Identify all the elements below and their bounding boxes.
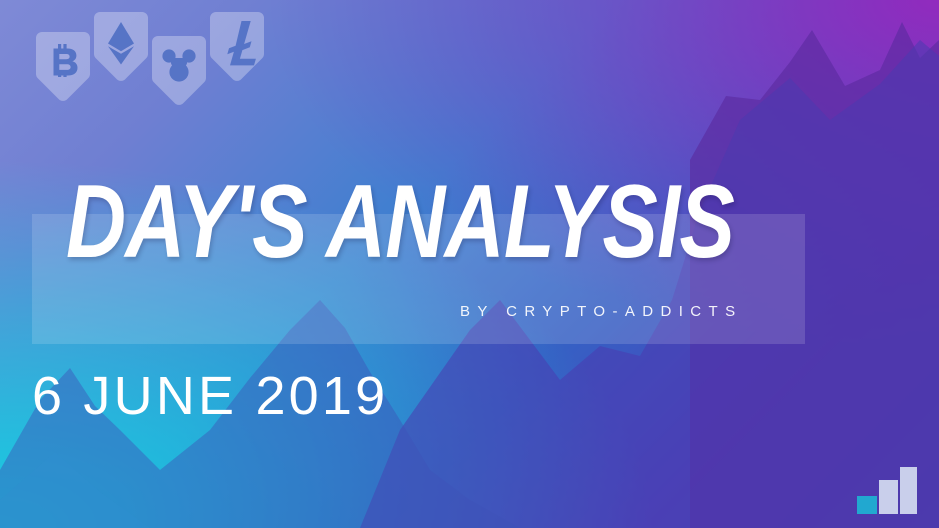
ripple-badge: [152, 36, 206, 106]
bitcoin-badge: [36, 32, 90, 102]
subtitle-byline: BY CRYPTO-ADDICTS: [460, 303, 743, 320]
page-title: DAY'S ANALYSIS: [66, 170, 734, 274]
logo-bar-1: [857, 496, 877, 514]
logo-bar-2: [879, 480, 898, 514]
date-label: 6 JUNE 2019: [32, 365, 388, 427]
bar-chart-logo: [857, 462, 917, 514]
badge-shield-shape: [36, 32, 90, 101]
logo-bar-3: [900, 467, 917, 514]
mountain-range-mid: [360, 40, 939, 528]
litecoin-badge: [210, 12, 264, 82]
poster-canvas: DAY'S ANALYSIS BY CRYPTO-ADDICTS 6 JUNE …: [0, 0, 939, 528]
page-title-text: DAY'S ANALYSIS: [66, 170, 734, 274]
ethereum-badge: [94, 12, 148, 82]
